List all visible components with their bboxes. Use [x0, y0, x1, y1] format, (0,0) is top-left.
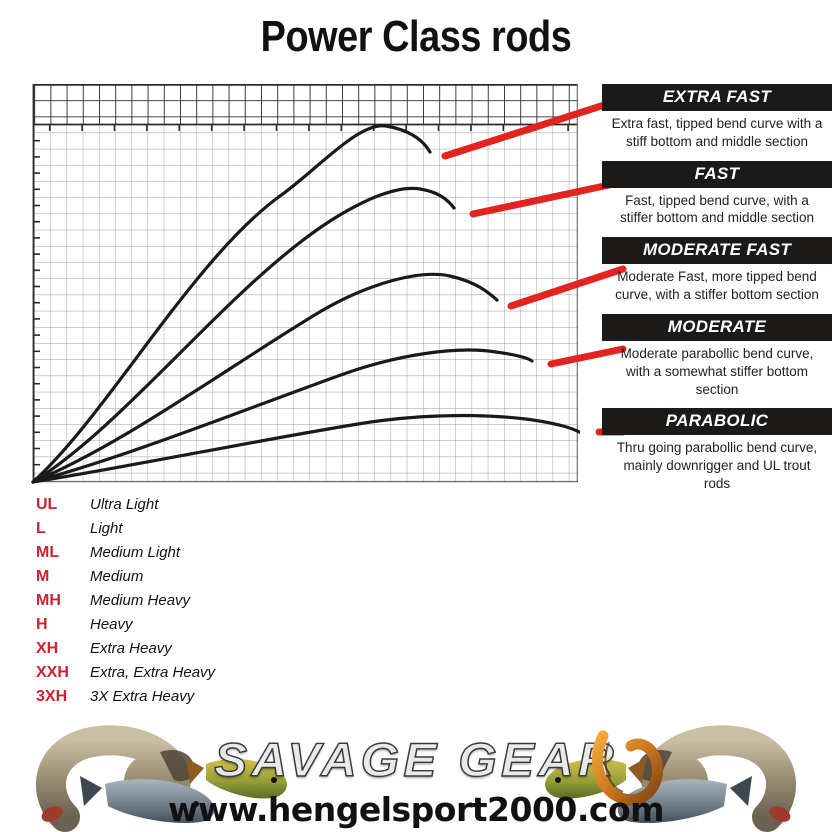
- power-class-name: 3X Extra Heavy: [90, 688, 194, 705]
- table-row: M Medium: [28, 568, 328, 592]
- legend-desc-moderate-fast: Moderate Fast, more tipped bend curve, w…: [602, 264, 832, 312]
- legend-item-moderate-fast: MODERATE FAST Moderate Fast, more tipped…: [602, 237, 832, 312]
- bottom-banner: SAVAGE GEAR www.hengelsport2000.com: [0, 722, 832, 832]
- table-row: XXH Extra, Extra Heavy: [28, 664, 328, 688]
- chart-y-ticks: [33, 141, 40, 465]
- legend-item-parabolic: PARABOLIC Thru going parabollic bend cur…: [602, 408, 832, 500]
- power-class-name: Heavy: [90, 616, 133, 633]
- legend-label-extra-fast: EXTRA FAST: [602, 84, 832, 111]
- power-class-abbr: L: [28, 520, 90, 538]
- power-class-name: Medium Light: [90, 544, 180, 561]
- pointer-fast: [473, 182, 623, 214]
- page-title: Power Class rods: [58, 12, 774, 62]
- poster-root: Power Class rods: [0, 0, 832, 832]
- power-class-name: Light: [90, 520, 123, 537]
- legend-desc-fast: Fast, tipped bend curve, with a stiffer …: [602, 188, 832, 236]
- power-class-name: Medium Heavy: [90, 592, 190, 609]
- power-class-name: Medium: [90, 568, 143, 585]
- pointer-extra-fast: [445, 99, 623, 156]
- power-class-abbr: ML: [28, 544, 90, 562]
- legend-label-moderate: MODERATE: [602, 314, 832, 341]
- legend-label-fast: FAST: [602, 161, 832, 188]
- power-class-abbr: XXH: [28, 664, 90, 682]
- website-url: www.hengelsport2000.com: [0, 790, 832, 829]
- bend-curve-chart: [18, 84, 580, 484]
- power-class-name: Ultra Light: [90, 496, 158, 513]
- power-class-abbr: 3XH: [28, 688, 90, 706]
- power-class-abbr: M: [28, 568, 90, 586]
- power-class-abbr: MH: [28, 592, 90, 610]
- table-row: UL Ultra Light: [28, 496, 328, 520]
- legend-desc-parabolic: Thru going parabollic bend curve, mainly…: [602, 435, 832, 500]
- table-row: 3XH 3X Extra Heavy: [28, 688, 328, 712]
- table-row: L Light: [28, 520, 328, 544]
- table-row: MH Medium Heavy: [28, 592, 328, 616]
- savage-gear-logo: SAVAGE GEAR: [0, 732, 832, 787]
- legend-item-fast: FAST Fast, tipped bend curve, with a sti…: [602, 161, 832, 236]
- table-row: H Heavy: [28, 616, 328, 640]
- legend-label-moderate-fast: MODERATE FAST: [602, 237, 832, 264]
- power-class-abbr: UL: [28, 496, 90, 514]
- legend-item-moderate: MODERATE Moderate parabollic bend curve,…: [602, 314, 832, 406]
- table-row: ML Medium Light: [28, 544, 328, 568]
- power-class-abbr: XH: [28, 640, 90, 658]
- legend-desc-moderate: Moderate parabollic bend curve, with a s…: [602, 341, 832, 406]
- table-row: XH Extra Heavy: [28, 640, 328, 664]
- legend-label-parabolic: PARABOLIC: [602, 408, 832, 435]
- power-class-abbr: H: [28, 616, 90, 634]
- legend-panel: EXTRA FAST Extra fast, tipped bend curve…: [602, 84, 832, 503]
- legend-desc-extra-fast: Extra fast, tipped bend curve with a sti…: [602, 111, 832, 159]
- power-class-name: Extra Heavy: [90, 640, 172, 657]
- power-class-name: Extra, Extra Heavy: [90, 664, 215, 681]
- power-class-table: UL Ultra Light L Light ML Medium Light M…: [28, 496, 328, 712]
- legend-item-extra-fast: EXTRA FAST Extra fast, tipped bend curve…: [602, 84, 832, 159]
